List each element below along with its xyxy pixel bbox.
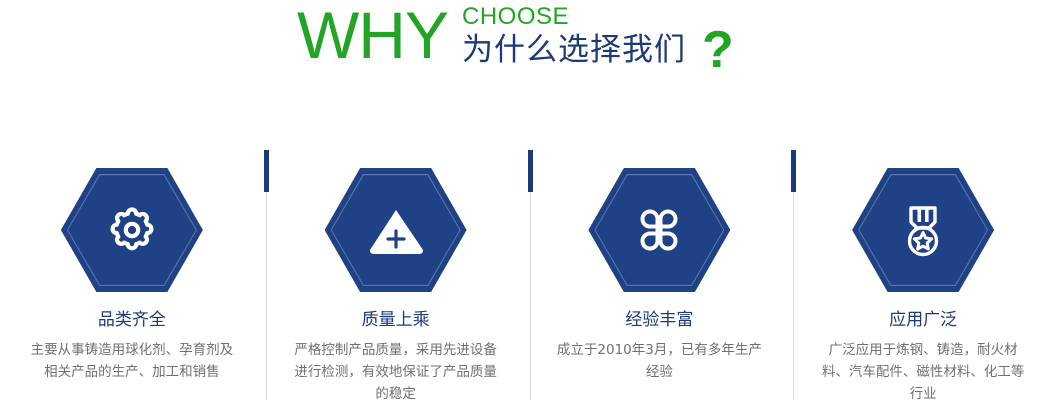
feature-hexagon-1 bbox=[61, 168, 203, 292]
triangle-plus-icon bbox=[325, 168, 467, 292]
divider-blue-segment bbox=[528, 150, 533, 192]
feature-hexagon-2 bbox=[325, 168, 467, 292]
feature-title: 品类齐全 bbox=[98, 310, 166, 330]
feature-description: 严格控制产品质量，采用先进设备进行检测，有效地保证了产品质量的稳定 bbox=[288, 339, 503, 405]
divider-gray-line bbox=[793, 192, 794, 400]
gear-icon bbox=[61, 168, 203, 292]
feature-hexagon-4 bbox=[852, 168, 994, 292]
section-header: WHY CHOOSE 为什么选择我们 ? bbox=[0, 0, 1055, 95]
header-title-group: WHY CHOOSE 为什么选择我们 ? bbox=[297, 2, 734, 76]
feature-title: 质量上乘 bbox=[362, 310, 430, 330]
medal-star-icon bbox=[852, 168, 994, 292]
column-divider bbox=[264, 150, 269, 402]
divider-gray-line bbox=[530, 192, 531, 400]
feature-description: 广泛应用于炼钢、铸造，耐火材料、汽车配件、磁性材料、化工等行业 bbox=[816, 339, 1031, 405]
feature-title: 应用广泛 bbox=[889, 310, 957, 330]
feature-column-2: 质量上乘 严格控制产品质量，采用先进设备进行检测，有效地保证了产品质量的稳定 bbox=[264, 150, 528, 416]
question-mark-icon: ? bbox=[702, 24, 734, 76]
feature-title: 经验丰富 bbox=[625, 310, 693, 330]
column-divider bbox=[791, 150, 796, 402]
feature-column-4: 应用广泛 广泛应用于炼钢、铸造，耐火材料、汽车配件、磁性材料、化工等行业 bbox=[791, 150, 1055, 416]
divider-gray-line bbox=[266, 192, 267, 400]
feature-column-1: 品类齐全 主要从事铸造用球化剂、孕育剂及相关产品的生产、加工和销售 bbox=[0, 150, 264, 416]
header-text-stack: CHOOSE 为什么选择我们 bbox=[462, 4, 686, 68]
header-choose-text: CHOOSE bbox=[462, 4, 686, 29]
feature-hexagon-3 bbox=[588, 168, 730, 292]
feature-description: 成立于2010年3月，已有多年生产经验 bbox=[552, 339, 767, 383]
features-row: 品类齐全 主要从事铸造用球化剂、孕育剂及相关产品的生产、加工和销售 质量 bbox=[0, 150, 1055, 416]
feature-description: 主要从事铸造用球化剂、孕育剂及相关产品的生产、加工和销售 bbox=[24, 339, 239, 383]
four-petal-clover-icon bbox=[588, 168, 730, 292]
divider-blue-segment bbox=[264, 150, 269, 192]
header-why-text: WHY bbox=[297, 2, 448, 68]
divider-blue-segment bbox=[791, 150, 796, 192]
feature-column-3: 经验丰富 成立于2010年3月，已有多年生产经验 bbox=[528, 150, 792, 416]
header-chinese-text: 为什么选择我们 bbox=[462, 32, 686, 68]
column-divider bbox=[528, 150, 533, 402]
